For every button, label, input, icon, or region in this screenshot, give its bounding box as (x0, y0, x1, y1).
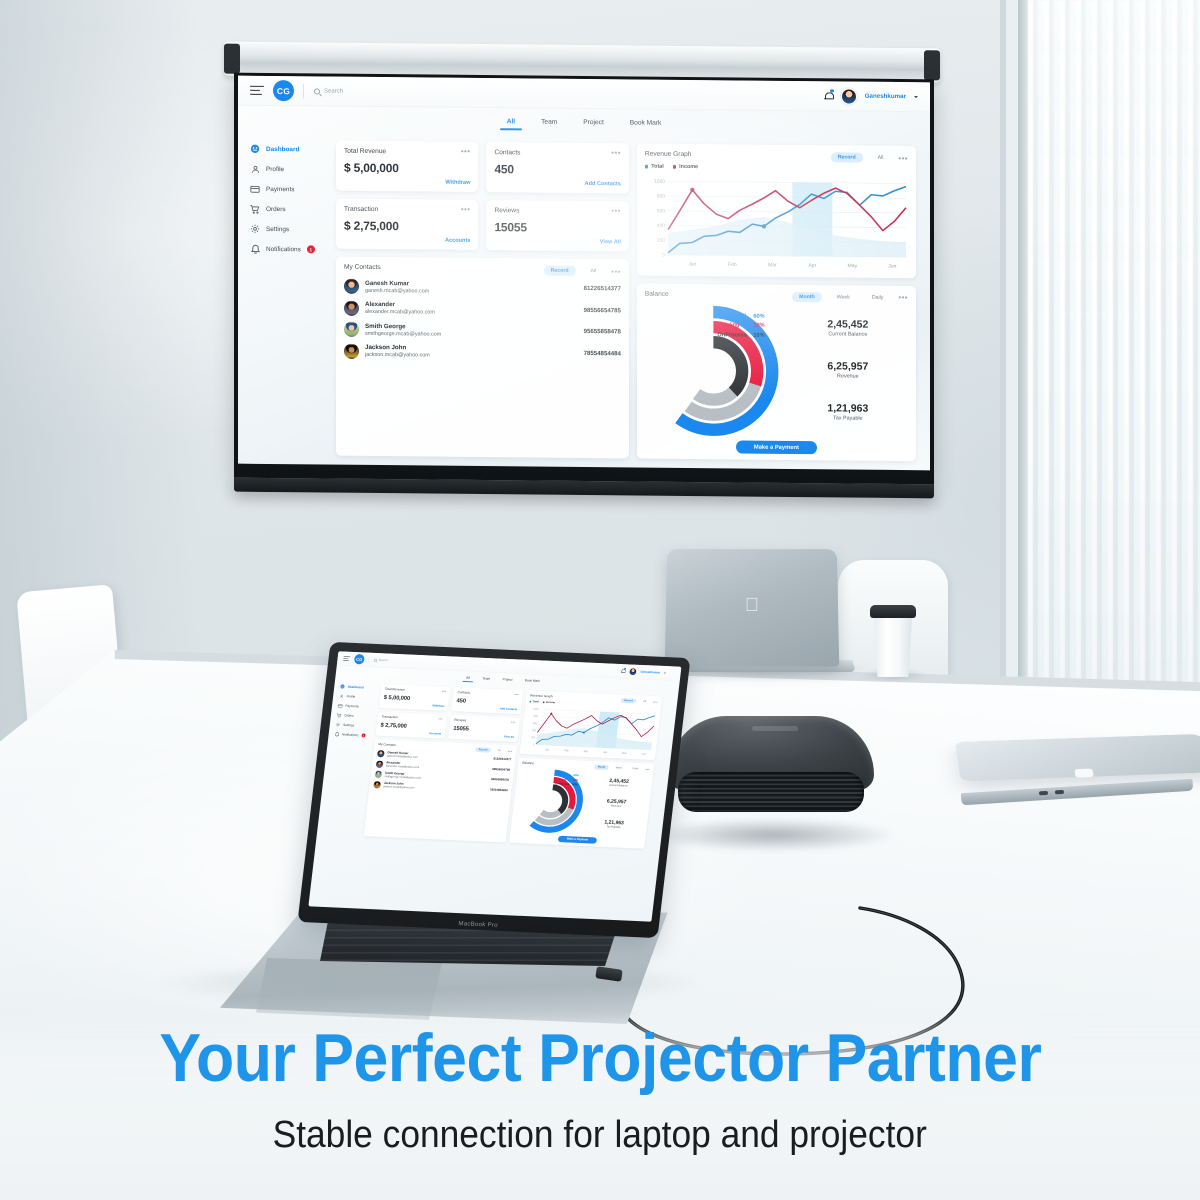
card-transaction[interactable]: Transaction••• $ 2,75,000 Accounts (376, 712, 448, 739)
filter-record[interactable]: Record (831, 152, 863, 162)
svg-text:May: May (847, 263, 857, 269)
contact-email: smithgeorge.mcab@yahoo.com (365, 330, 578, 338)
more-icon[interactable]: ••• (898, 295, 908, 300)
legend-total: Total (645, 164, 664, 170)
dashboard-app: CG Search Ganeshkumar All (238, 76, 930, 471)
svg-text:800: 800 (657, 194, 665, 200)
contact-phone: 78554854484 (584, 349, 621, 356)
sidebar-label-payments: Payments (266, 185, 294, 192)
more-icon[interactable]: ••• (461, 207, 471, 212)
contact-name: Ganesh Kumar (365, 279, 409, 286)
bell-icon[interactable] (621, 668, 626, 673)
panel-balance: Balance Month Week Daily ••• (509, 758, 654, 849)
more-icon[interactable]: ••• (611, 150, 621, 155)
chevron-down-icon[interactable] (664, 672, 666, 673)
svg-text:Apr: Apr (603, 751, 607, 754)
bell-icon (250, 244, 260, 254)
card-value: 15055 (494, 220, 620, 235)
revenue-filters: Record All ••• (831, 152, 908, 163)
sidebar-label-payments: Payments (345, 704, 359, 708)
sidebar-item-dashboard[interactable]: Dashboard (340, 684, 377, 690)
avatar (344, 322, 359, 337)
chart-legend: Total Income (645, 164, 908, 173)
svg-text:Mar: Mar (583, 750, 588, 753)
card-contacts[interactable]: Contacts••• 450 Add Contacts (452, 687, 524, 714)
user-icon (339, 694, 344, 699)
more-icon[interactable]: ••• (438, 718, 443, 721)
more-icon[interactable]: ••• (611, 269, 621, 274)
legend-completed: Completed 60% (717, 313, 764, 319)
card-action-view-all[interactable]: View All (600, 239, 621, 245)
balance-radial-chart: Completed60% Pending30% OnProcess10% (514, 768, 588, 835)
filter-all[interactable]: All (584, 266, 604, 276)
avatar (377, 750, 385, 757)
svg-text:Feb: Feb (728, 262, 737, 268)
svg-text:800: 800 (534, 716, 539, 718)
svg-text:200: 200 (531, 737, 536, 739)
notifications-badge: 1 (307, 245, 315, 253)
panel-title: Balance (645, 290, 669, 297)
search-input[interactable]: Search (303, 84, 343, 98)
filter-daily[interactable]: Daily (629, 766, 642, 771)
contact-email: ganesh.mcab@yahoo.com (365, 287, 578, 295)
stat-row-1: Total Revenue ••• $ 5,00,000 Withdraw (336, 141, 629, 194)
avatar (374, 770, 382, 777)
filter-month[interactable]: Month (792, 292, 822, 302)
contact-name: Jackson John (365, 344, 406, 351)
balance-body: Completed 60% Pending 30% (645, 304, 908, 438)
projector-device (664, 716, 878, 844)
laptop-display: CG Search Ganeshkumar (308, 651, 681, 921)
list-item[interactable]: Smith George smithgeorge.mcab@yahoo.com … (344, 322, 621, 340)
casing-cap-left (224, 44, 240, 74)
projector-brand (752, 726, 798, 731)
avatar[interactable] (841, 88, 857, 104)
sidebar-label-dashboard: Dashboard (348, 685, 364, 689)
filter-all[interactable]: All (871, 153, 891, 163)
svg-text:600: 600 (657, 208, 665, 214)
card-value: $ 5,00,000 (344, 161, 470, 176)
sidebar-label-orders: Orders (344, 714, 354, 718)
card-icon (250, 184, 260, 194)
filter-month[interactable]: Month (594, 765, 609, 770)
card-transaction[interactable]: Transaction ••• $ 2,75,000 Accounts (336, 199, 478, 250)
office-scene: CG Search Ganeshkumar All (0, 0, 1200, 1200)
cart-icon (336, 713, 341, 718)
user-name[interactable]: Ganeshkumar (640, 670, 660, 674)
sidebar-label-settings: Settings (266, 225, 289, 232)
sidebar-item-profile[interactable]: Profile (250, 164, 326, 175)
revenue-chart-svg: 1000800600 4002000 JanFebMar AprMayJun (524, 704, 657, 757)
svg-text:Jun: Jun (888, 264, 896, 270)
card-icon (338, 703, 343, 708)
sidebar-label-dashboard: Dashboard (266, 145, 299, 152)
dashboard-icon (250, 144, 260, 154)
sidebar-item-settings[interactable]: Settings (250, 224, 326, 235)
filter-week[interactable]: Week (830, 292, 857, 302)
sidebar-item-payments[interactable]: Payments (338, 703, 375, 709)
filter-all[interactable]: All (640, 699, 650, 704)
panel-my-contacts: My Contacts Record All ••• (336, 257, 629, 459)
svg-text:Apr: Apr (808, 263, 816, 269)
card-action-view-all[interactable]: View All (504, 735, 514, 738)
contact-phone: 81226514377 (584, 285, 621, 292)
svg-text:1000: 1000 (533, 709, 539, 711)
legend-pending: Pending 30% (717, 322, 764, 328)
svg-text:Jan: Jan (688, 262, 696, 268)
tab-project[interactable]: Project (583, 119, 604, 131)
search-icon (374, 658, 377, 661)
avatar[interactable] (629, 668, 638, 676)
balance-legend: Completed 60% Pending 30% (717, 313, 764, 338)
svg-text:400: 400 (657, 223, 665, 229)
sidebar-label-profile: Profile (346, 695, 355, 699)
avatar (373, 781, 381, 788)
search-placeholder: Search (324, 88, 343, 94)
topbar-right: Ganeshkumar (824, 88, 918, 105)
figure-current-balance: 2,45,452 Current Balance (827, 318, 868, 337)
panel-title: My Contacts (344, 264, 381, 271)
figure-tax-payable: 1,21,963 Tax Payable (827, 403, 868, 422)
app-logo[interactable]: CG (354, 654, 365, 664)
tab-team[interactable]: Team (541, 119, 557, 131)
sidebar: Dashboard Profile (250, 140, 326, 456)
cards-column-right: Revenue Graph Record All ••• (637, 144, 916, 462)
projector-grille (678, 772, 864, 812)
screen-body: CG Search Ganeshkumar All (234, 73, 934, 485)
cup-lid (870, 605, 916, 618)
card-action-accounts[interactable]: Accounts (429, 732, 442, 735)
notifications-badge: 1 (361, 733, 365, 737)
coffee-cup (872, 605, 914, 677)
card-contacts[interactable]: Contacts ••• 450 Add Contacts (486, 142, 628, 193)
more-icon[interactable]: ••• (898, 156, 908, 161)
tab-book-mark[interactable]: Book Mark (524, 679, 540, 685)
balance-filters: Month Week Daily ••• (792, 292, 908, 303)
gear-icon (250, 224, 260, 234)
cards-column-left: Total Revenue ••• $ 5,00,000 Withdraw (336, 141, 629, 459)
balance-radial-chart: Completed 60% Pending 30% (645, 304, 782, 437)
svg-text:Jun: Jun (642, 753, 647, 756)
card-title: Total Revenue (344, 148, 386, 155)
bell-icon (334, 732, 339, 737)
svg-text:1000: 1000 (654, 179, 665, 185)
legend-income: Income (673, 164, 698, 170)
contact-phone: 95655858478 (584, 328, 621, 335)
dashboard-icon (340, 684, 345, 689)
sidebar-label-orders: Orders (266, 205, 286, 212)
contact-list: Ganesh Kumar ganesh.mcab@yahoo.com 81226… (344, 279, 621, 361)
marketing-text-block: Your Perfect Projector Partner Stable co… (0, 1010, 1200, 1200)
avatar (344, 300, 359, 315)
stat-row-2: Transaction ••• $ 2,75,000 Accounts (336, 199, 629, 252)
sidebar-label-settings: Settings (343, 723, 354, 727)
hamburger-icon[interactable] (343, 656, 350, 661)
hamburger-icon[interactable] (250, 85, 264, 95)
list-item[interactable]: Jackson John jackson.mcab@yahoo.com 7855… (344, 343, 621, 361)
filter-week[interactable]: Week (612, 765, 626, 770)
avatar (344, 279, 359, 294)
sidebar-label-notifications: Notifications (266, 245, 301, 252)
cards-area: Total Revenue ••• $ 5,00,000 Withdraw (336, 141, 916, 462)
card-reviews[interactable]: Reviews••• 15055 View All (448, 715, 520, 742)
card-action-accounts[interactable]: Accounts (445, 238, 471, 244)
closed-macbook-right (955, 742, 1200, 838)
svg-text:Jan: Jan (545, 748, 550, 751)
projection-screen: CG Search Ganeshkumar All (218, 45, 948, 505)
figure-revenue: 6,25,957 Revenue (827, 360, 868, 379)
panel-revenue-graph: Revenue Graph Record All ••• (520, 690, 663, 760)
sidebar-item-payments[interactable]: Payments (250, 184, 326, 195)
apple-logo-icon (1074, 769, 1093, 778)
svg-text:Feb: Feb (564, 749, 569, 752)
card-title: Transaction (344, 206, 378, 213)
card-reviews[interactable]: Reviews ••• 15055 View All (486, 200, 628, 251)
tab-team[interactable]: Team (482, 677, 490, 683)
make-a-payment-button[interactable]: Make a Payment (736, 441, 817, 455)
sidebar-item-dashboard[interactable]: Dashboard (250, 144, 326, 155)
tab-all[interactable]: All (507, 118, 515, 130)
panel-title: Revenue Graph (645, 151, 692, 158)
revenue-chart-svg: 1000 800 600 400 200 0 (645, 173, 908, 272)
card-action-add-contacts[interactable]: Add Contacts (500, 707, 518, 711)
chevron-down-icon[interactable] (914, 96, 918, 98)
sidebar-label-notifications: Notifications (342, 733, 359, 737)
tab-book-mark[interactable]: Book Mark (630, 119, 662, 131)
sidebar-item-notifications[interactable]: Notifications 1 (250, 244, 326, 255)
card-total-revenue[interactable]: Total Revenue••• $ 5,00,000 Withdraw (379, 684, 451, 711)
sidebar-item-notifications[interactable]: Notifications 1 (334, 732, 371, 738)
sidebar-item-orders[interactable]: Orders (336, 713, 373, 719)
more-icon[interactable]: ••• (514, 693, 519, 696)
search-placeholder: Search (379, 659, 388, 662)
user-name[interactable]: Ganeshkumar (865, 93, 906, 100)
projected-image: CG Search Ganeshkumar All (238, 76, 930, 471)
more-icon[interactable]: ••• (511, 721, 516, 724)
contact-email: jackson.mcab@yahoo.com (365, 352, 578, 360)
svg-text:200: 200 (657, 238, 665, 244)
balance-figures: 2,45,452 Current Balance 6,25,957 Revenu… (788, 306, 908, 438)
card-value: $ 2,75,000 (344, 219, 470, 234)
contact-email: alexander.mcab@yahoo.com (365, 309, 578, 317)
avatar (344, 343, 359, 358)
cart-icon (250, 204, 260, 214)
contact-name: Smith George (365, 322, 406, 329)
bell-icon[interactable] (824, 90, 833, 101)
more-icon[interactable]: ••• (653, 701, 658, 704)
list-item[interactable]: Ganesh Kumar ganesh.mcab@yahoo.com 81226… (344, 279, 621, 297)
more-icon[interactable]: ••• (461, 149, 471, 154)
more-icon[interactable]: ••• (508, 750, 513, 753)
dashboard-body: Dashboard Profile (238, 128, 930, 462)
panel-my-contacts: My Contacts Record All ••• (364, 739, 517, 842)
filter-all[interactable]: All (494, 748, 504, 753)
background-macbook:  (666, 548, 838, 666)
revenue-chart: 1000 800 600 400 200 0 (645, 173, 908, 272)
legend-onprocess: OnProcess 10% (717, 332, 764, 338)
headline: Your Perfect Projector Partner (159, 1024, 1041, 1092)
svg-text:Mar: Mar (768, 262, 777, 268)
more-icon[interactable]: ••• (645, 768, 650, 771)
make-a-payment-button[interactable]: Make a Payment (558, 836, 597, 844)
apple-logo-icon:  (743, 596, 760, 616)
sidebar-label-profile: Profile (266, 165, 284, 172)
avatar (376, 760, 384, 767)
card-title: Contacts (494, 149, 520, 156)
list-item[interactable]: Alexander alexander.mcab@yahoo.com 98556… (344, 300, 621, 318)
search-input[interactable]: Search (368, 656, 388, 664)
card-title: Reviews (494, 207, 519, 214)
svg-text:0: 0 (533, 744, 535, 746)
card-action-withdraw[interactable]: Withdraw (432, 704, 444, 707)
user-icon (250, 164, 260, 174)
contacts-filters: Record All ••• (544, 266, 621, 277)
svg-text:400: 400 (532, 730, 537, 732)
laptop-lid: CG Search Ganeshkumar (297, 642, 690, 938)
filter-record[interactable]: Record (621, 698, 637, 703)
gear-icon (335, 722, 340, 727)
card-action-add-contacts[interactable]: Add Contacts (585, 181, 621, 187)
filter-record[interactable]: Record (544, 266, 576, 276)
svg-text:600: 600 (533, 723, 538, 725)
more-icon[interactable]: ••• (441, 690, 446, 693)
tab-project[interactable]: Project (502, 678, 512, 684)
filter-record[interactable]: Record (475, 747, 491, 752)
sidebar-item-settings[interactable]: Settings (335, 722, 372, 728)
search-icon (314, 88, 320, 94)
svg-text:0: 0 (662, 253, 665, 259)
sidebar-item-profile[interactable]: Profile (339, 694, 376, 700)
sidebar-item-orders[interactable]: Orders (250, 204, 326, 215)
panel-balance: Balance Month Week Daily ••• (637, 283, 916, 461)
contact-phone: 98556654785 (584, 306, 621, 313)
card-total-revenue[interactable]: Total Revenue ••• $ 5,00,000 Withdraw (336, 141, 478, 192)
subheadline: Stable connection for laptop and project… (273, 1114, 927, 1157)
filter-daily[interactable]: Daily (865, 293, 891, 303)
laptop-dashboard-mirror: CG Search Ganeshkumar (317, 651, 673, 851)
app-logo[interactable]: CG (273, 80, 294, 101)
tab-all[interactable]: All (466, 676, 471, 682)
contact-name: Alexander (365, 301, 395, 308)
casing-cap-right (924, 50, 940, 80)
svg-text:May: May (622, 752, 628, 755)
card-value: 450 (494, 162, 620, 177)
more-icon[interactable]: ••• (611, 208, 621, 213)
card-action-withdraw[interactable]: Withdraw (445, 180, 470, 186)
panel-revenue-graph: Revenue Graph Record All ••• (637, 144, 916, 278)
